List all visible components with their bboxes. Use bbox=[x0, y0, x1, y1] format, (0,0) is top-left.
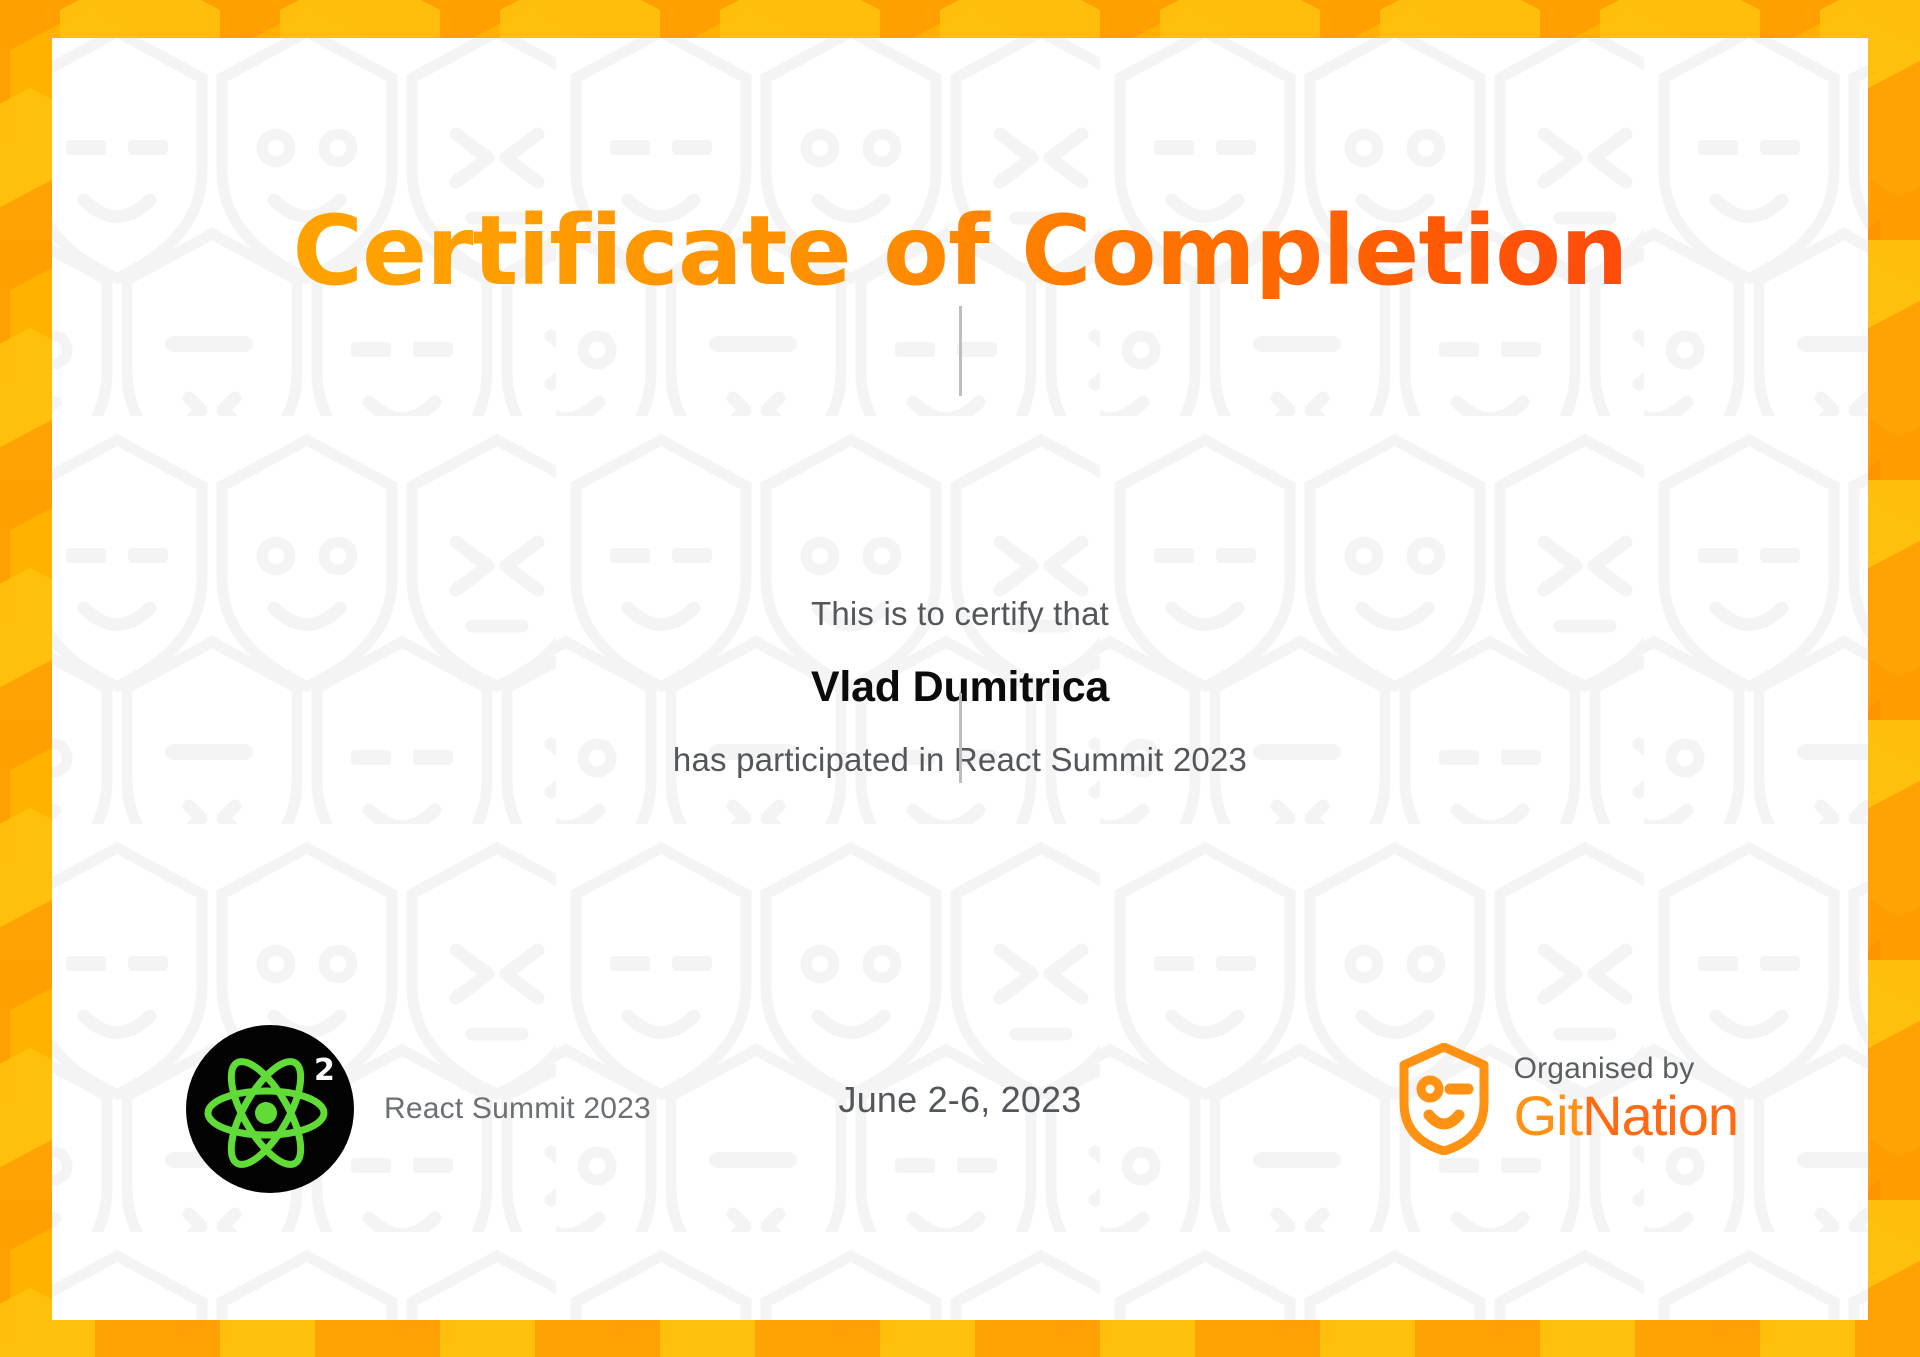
organiser-logo-group: Organised by GitNation bbox=[1398, 1043, 1738, 1155]
certificate-card: Certificate of Completion This is to cer… bbox=[52, 38, 1868, 1320]
gitnation-text-block: Organised by GitNation bbox=[1514, 1052, 1738, 1146]
card-content: Certificate of Completion This is to cer… bbox=[52, 38, 1868, 1320]
page-title: Certificate of Completion bbox=[52, 203, 1868, 299]
gitnation-shield-face-icon bbox=[1398, 1043, 1490, 1155]
divider-rule-top bbox=[959, 306, 962, 396]
gitnation-wordmark-nation: Nation bbox=[1582, 1084, 1738, 1147]
gitnation-wordmark: GitNation bbox=[1514, 1087, 1738, 1146]
organised-by-label: Organised by bbox=[1514, 1052, 1738, 1085]
certify-line: This is to certify that bbox=[52, 595, 1868, 633]
certificate: Certificate of Completion This is to cer… bbox=[0, 0, 1920, 1357]
divider-rule-bottom bbox=[959, 693, 962, 783]
certificate-footer: 2 React Summit 2023 June 2-6, 2023 bbox=[52, 1013, 1868, 1213]
gitnation-wordmark-git: Git bbox=[1514, 1084, 1583, 1147]
